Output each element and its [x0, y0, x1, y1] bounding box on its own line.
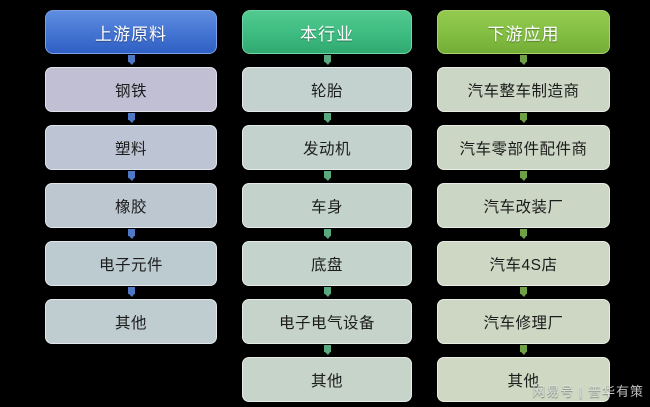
connector-arrow [45, 286, 217, 299]
node-upstream-4[interactable]: 其他 [45, 299, 217, 344]
arrow-down-icon [324, 113, 331, 120]
column-industry: 本行业轮胎发动机车身底盘电子电气设备其他 [242, 0, 412, 402]
connector-arrow [437, 228, 610, 241]
node-label: 电子元件 [99, 253, 163, 275]
connector-arrow [242, 344, 412, 357]
node-label: 其他 [507, 369, 539, 391]
node-downstream-4[interactable]: 汽车修理厂 [437, 299, 610, 344]
node-upstream-2[interactable]: 橡胶 [45, 183, 217, 228]
arrow-down-icon [128, 171, 135, 178]
node-label: 汽车4S店 [490, 253, 558, 275]
connector-arrow [45, 54, 217, 67]
connector-arrow [242, 286, 412, 299]
connector-arrow [437, 170, 610, 183]
arrow-down-icon [520, 287, 527, 294]
connector-arrow [437, 112, 610, 125]
node-label: 其他 [115, 311, 147, 333]
column-header-downstream[interactable]: 下游应用 [437, 10, 610, 54]
node-industry-1[interactable]: 发动机 [242, 125, 412, 170]
connector-arrow [437, 286, 610, 299]
node-downstream-0[interactable]: 汽车整车制造商 [437, 67, 610, 112]
node-industry-3[interactable]: 底盘 [242, 241, 412, 286]
arrow-down-icon [520, 171, 527, 178]
connector-arrow [242, 170, 412, 183]
column-header-label: 上游原料 [95, 20, 167, 45]
arrow-down-icon [128, 287, 135, 294]
node-label: 汽车改装厂 [483, 195, 563, 217]
node-label: 发动机 [303, 137, 351, 159]
arrow-down-icon [520, 55, 527, 62]
column-header-upstream[interactable]: 上游原料 [45, 10, 217, 54]
column-header-industry[interactable]: 本行业 [242, 10, 412, 54]
arrow-down-icon [324, 287, 331, 294]
node-industry-0[interactable]: 轮胎 [242, 67, 412, 112]
node-upstream-3[interactable]: 电子元件 [45, 241, 217, 286]
node-label: 钢铁 [115, 79, 147, 101]
node-label: 汽车零部件配件商 [459, 137, 587, 159]
arrow-down-icon [520, 345, 527, 352]
connector-arrow [45, 112, 217, 125]
arrow-down-icon [520, 229, 527, 236]
node-label: 电子电气设备 [279, 311, 375, 333]
industry-chain-diagram: 上游原料钢铁塑料橡胶电子元件其他本行业轮胎发动机车身底盘电子电气设备其他下游应用… [0, 0, 650, 407]
arrow-down-icon [324, 171, 331, 178]
node-downstream-2[interactable]: 汽车改装厂 [437, 183, 610, 228]
node-downstream-3[interactable]: 汽车4S店 [437, 241, 610, 286]
node-industry-2[interactable]: 车身 [242, 183, 412, 228]
column-upstream: 上游原料钢铁塑料橡胶电子元件其他 [45, 0, 217, 344]
connector-arrow [242, 228, 412, 241]
node-label: 其他 [311, 369, 343, 391]
connector-arrow [242, 112, 412, 125]
column-downstream: 下游应用汽车整车制造商汽车零部件配件商汽车改装厂汽车4S店汽车修理厂其他 [437, 0, 610, 402]
arrow-down-icon [128, 229, 135, 236]
arrow-down-icon [520, 113, 527, 120]
connector-arrow [45, 170, 217, 183]
connector-arrow [45, 228, 217, 241]
node-upstream-0[interactable]: 钢铁 [45, 67, 217, 112]
node-downstream-1[interactable]: 汽车零部件配件商 [437, 125, 610, 170]
node-label: 橡胶 [115, 195, 147, 217]
node-label: 车身 [311, 195, 343, 217]
connector-arrow [242, 54, 412, 67]
node-label: 底盘 [311, 253, 343, 275]
arrow-down-icon [128, 113, 135, 120]
column-header-label: 本行业 [300, 20, 354, 45]
node-downstream-5[interactable]: 其他 [437, 357, 610, 402]
node-industry-5[interactable]: 其他 [242, 357, 412, 402]
arrow-down-icon [324, 229, 331, 236]
arrow-down-icon [324, 345, 331, 352]
connector-arrow [437, 344, 610, 357]
node-label: 轮胎 [311, 79, 343, 101]
column-header-label: 下游应用 [488, 20, 560, 45]
node-industry-4[interactable]: 电子电气设备 [242, 299, 412, 344]
node-label: 汽车整车制造商 [467, 79, 579, 101]
arrow-down-icon [324, 55, 331, 62]
node-upstream-1[interactable]: 塑料 [45, 125, 217, 170]
node-label: 塑料 [115, 137, 147, 159]
node-label: 汽车修理厂 [483, 311, 563, 333]
connector-arrow [437, 54, 610, 67]
arrow-down-icon [128, 55, 135, 62]
